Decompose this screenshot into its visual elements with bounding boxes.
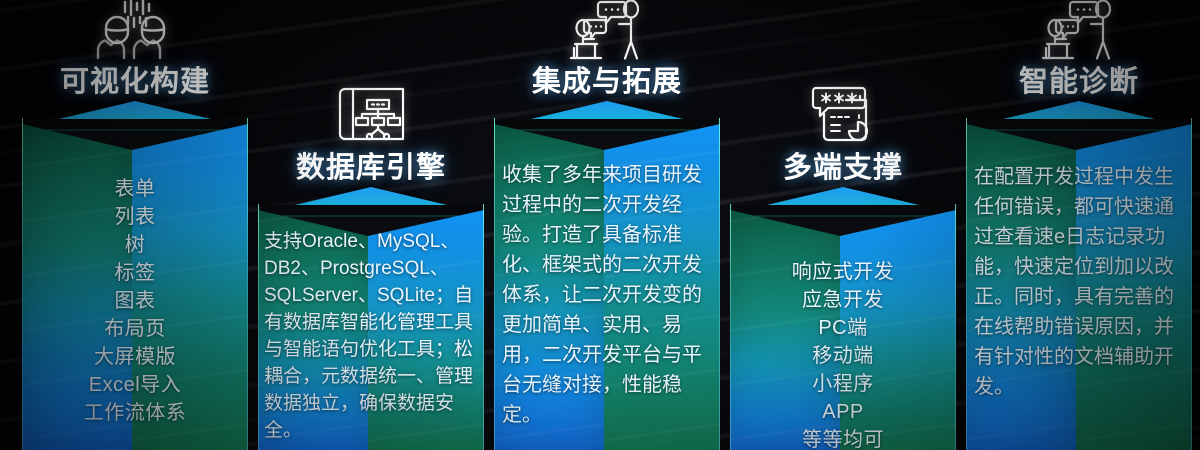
pillar-smart-diagnosis[interactable]: 智能诊断 在配置开发过程中发生任何错误，都可快速通过查看速e日 bbox=[966, 0, 1192, 450]
page-title: 智能诊断 bbox=[1019, 58, 1139, 100]
page-title: 集成与拓展 bbox=[532, 58, 682, 100]
page-title: 可视化构建 bbox=[60, 58, 210, 100]
pillar-content-text: 支持Oracle、MySQL、DB2、ProstgreSQL、SQLServer… bbox=[264, 228, 478, 444]
two-people-team-icon bbox=[87, 0, 183, 60]
pillar-integration-extension[interactable]: 集成与拓展 收集了多年来项目研发过程中的二次开发经验。打造了具 bbox=[494, 0, 720, 450]
pillar-content-text: 在配置开发过程中发生任何错误，都可快速通过查看速e日志记录功能，快速定位到加以改… bbox=[974, 162, 1186, 402]
people-desk-chat-icon bbox=[559, 0, 655, 60]
pillar-content-text: 表单 列表 树 标签 图表 布局页 大屏模版 Excel导入 工作流体系 bbox=[28, 175, 242, 427]
pillar-visual-build[interactable]: 可视化构建 表单 bbox=[22, 0, 248, 450]
pillar-content-text: 收集了多年来项目研发过程中的二次开发经验。打造了具备标准化、框架式的二次开发体系… bbox=[502, 160, 714, 430]
infographic-stage: 可视化构建 表单 bbox=[0, 0, 1200, 450]
page-title: 多端支撑 bbox=[783, 144, 903, 186]
page-title: 数据库引擎 bbox=[296, 144, 446, 186]
people-desk-chat-icon bbox=[1031, 0, 1127, 60]
pillar-database-engine[interactable]: 数据库引擎 支持Oracle、MySQL、DB2、Prostg bbox=[258, 0, 484, 450]
pillar-content-text: 响应式开发 应急开发 PC端 移动端 小程序 APP 等等均可 bbox=[736, 258, 950, 450]
pillar-multi-terminal-support[interactable]: 多端支撑 响应式开发 应急开发 PC端 移动端 小程序 APP bbox=[730, 0, 956, 450]
database-network-diagram-icon bbox=[323, 84, 419, 146]
password-bubble-document-icon bbox=[795, 84, 891, 146]
